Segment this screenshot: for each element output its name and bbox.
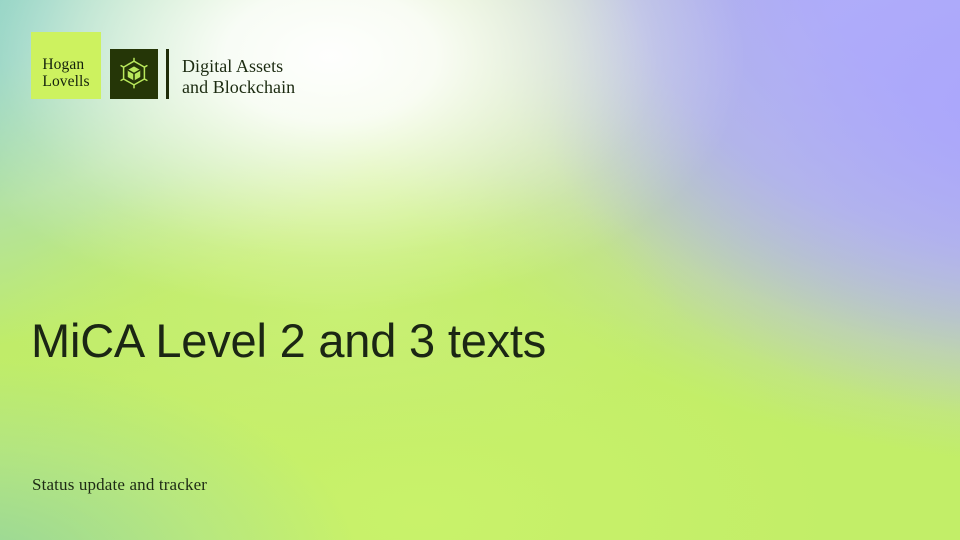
title-slide: Hogan Lovells Digita: [0, 0, 960, 540]
logo-lockup: Hogan Lovells Digita: [31, 32, 295, 99]
hogan-lovells-logo: Hogan Lovells: [31, 32, 101, 99]
blockchain-cube-glyph: [118, 57, 150, 91]
slide-subtitle: Status update and tracker: [32, 475, 207, 495]
slide-title: MiCA Level 2 and 3 texts: [31, 313, 651, 369]
practice-name-line-1: Digital Assets: [182, 56, 295, 77]
practice-name-line-2: and Blockchain: [182, 77, 295, 98]
firm-name-line-1: Hogan: [42, 57, 89, 74]
hogan-lovells-wordmark: Hogan Lovells: [42, 41, 89, 90]
lockup-divider: [166, 49, 169, 99]
blockchain-cube-icon: [110, 49, 158, 99]
firm-name-line-2: Lovells: [42, 74, 89, 91]
practice-group-name: Digital Assets and Blockchain: [182, 56, 295, 99]
